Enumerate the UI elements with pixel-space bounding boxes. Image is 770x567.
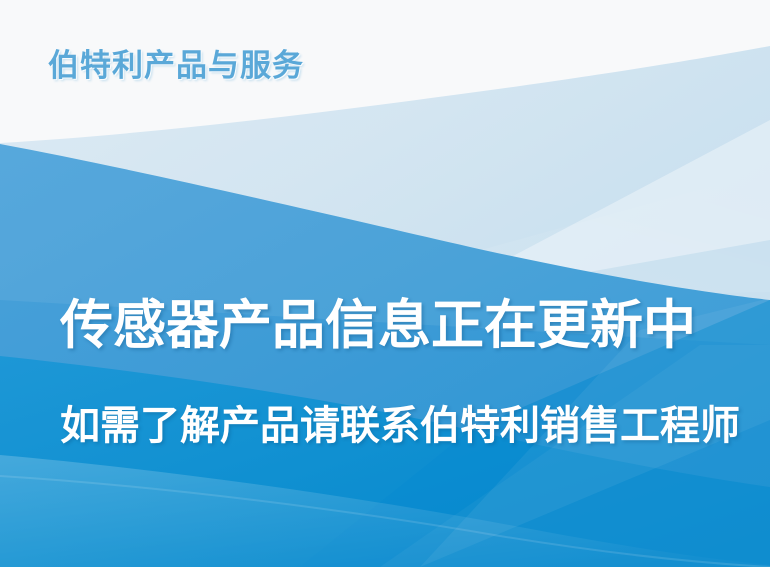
headline-secondary: 如需了解产品请联系伯特利销售工程师 xyxy=(60,402,740,450)
promo-banner: 伯特利产品与服务 传感器产品信息正在更新中 如需了解产品请联系伯特利销售工程师 xyxy=(0,0,770,567)
brand-heading: 伯特利产品与服务 xyxy=(48,48,304,84)
headline-primary: 传感器产品信息正在更新中 xyxy=(60,296,696,356)
banner-text-layer: 伯特利产品与服务 传感器产品信息正在更新中 如需了解产品请联系伯特利销售工程师 xyxy=(0,0,770,567)
